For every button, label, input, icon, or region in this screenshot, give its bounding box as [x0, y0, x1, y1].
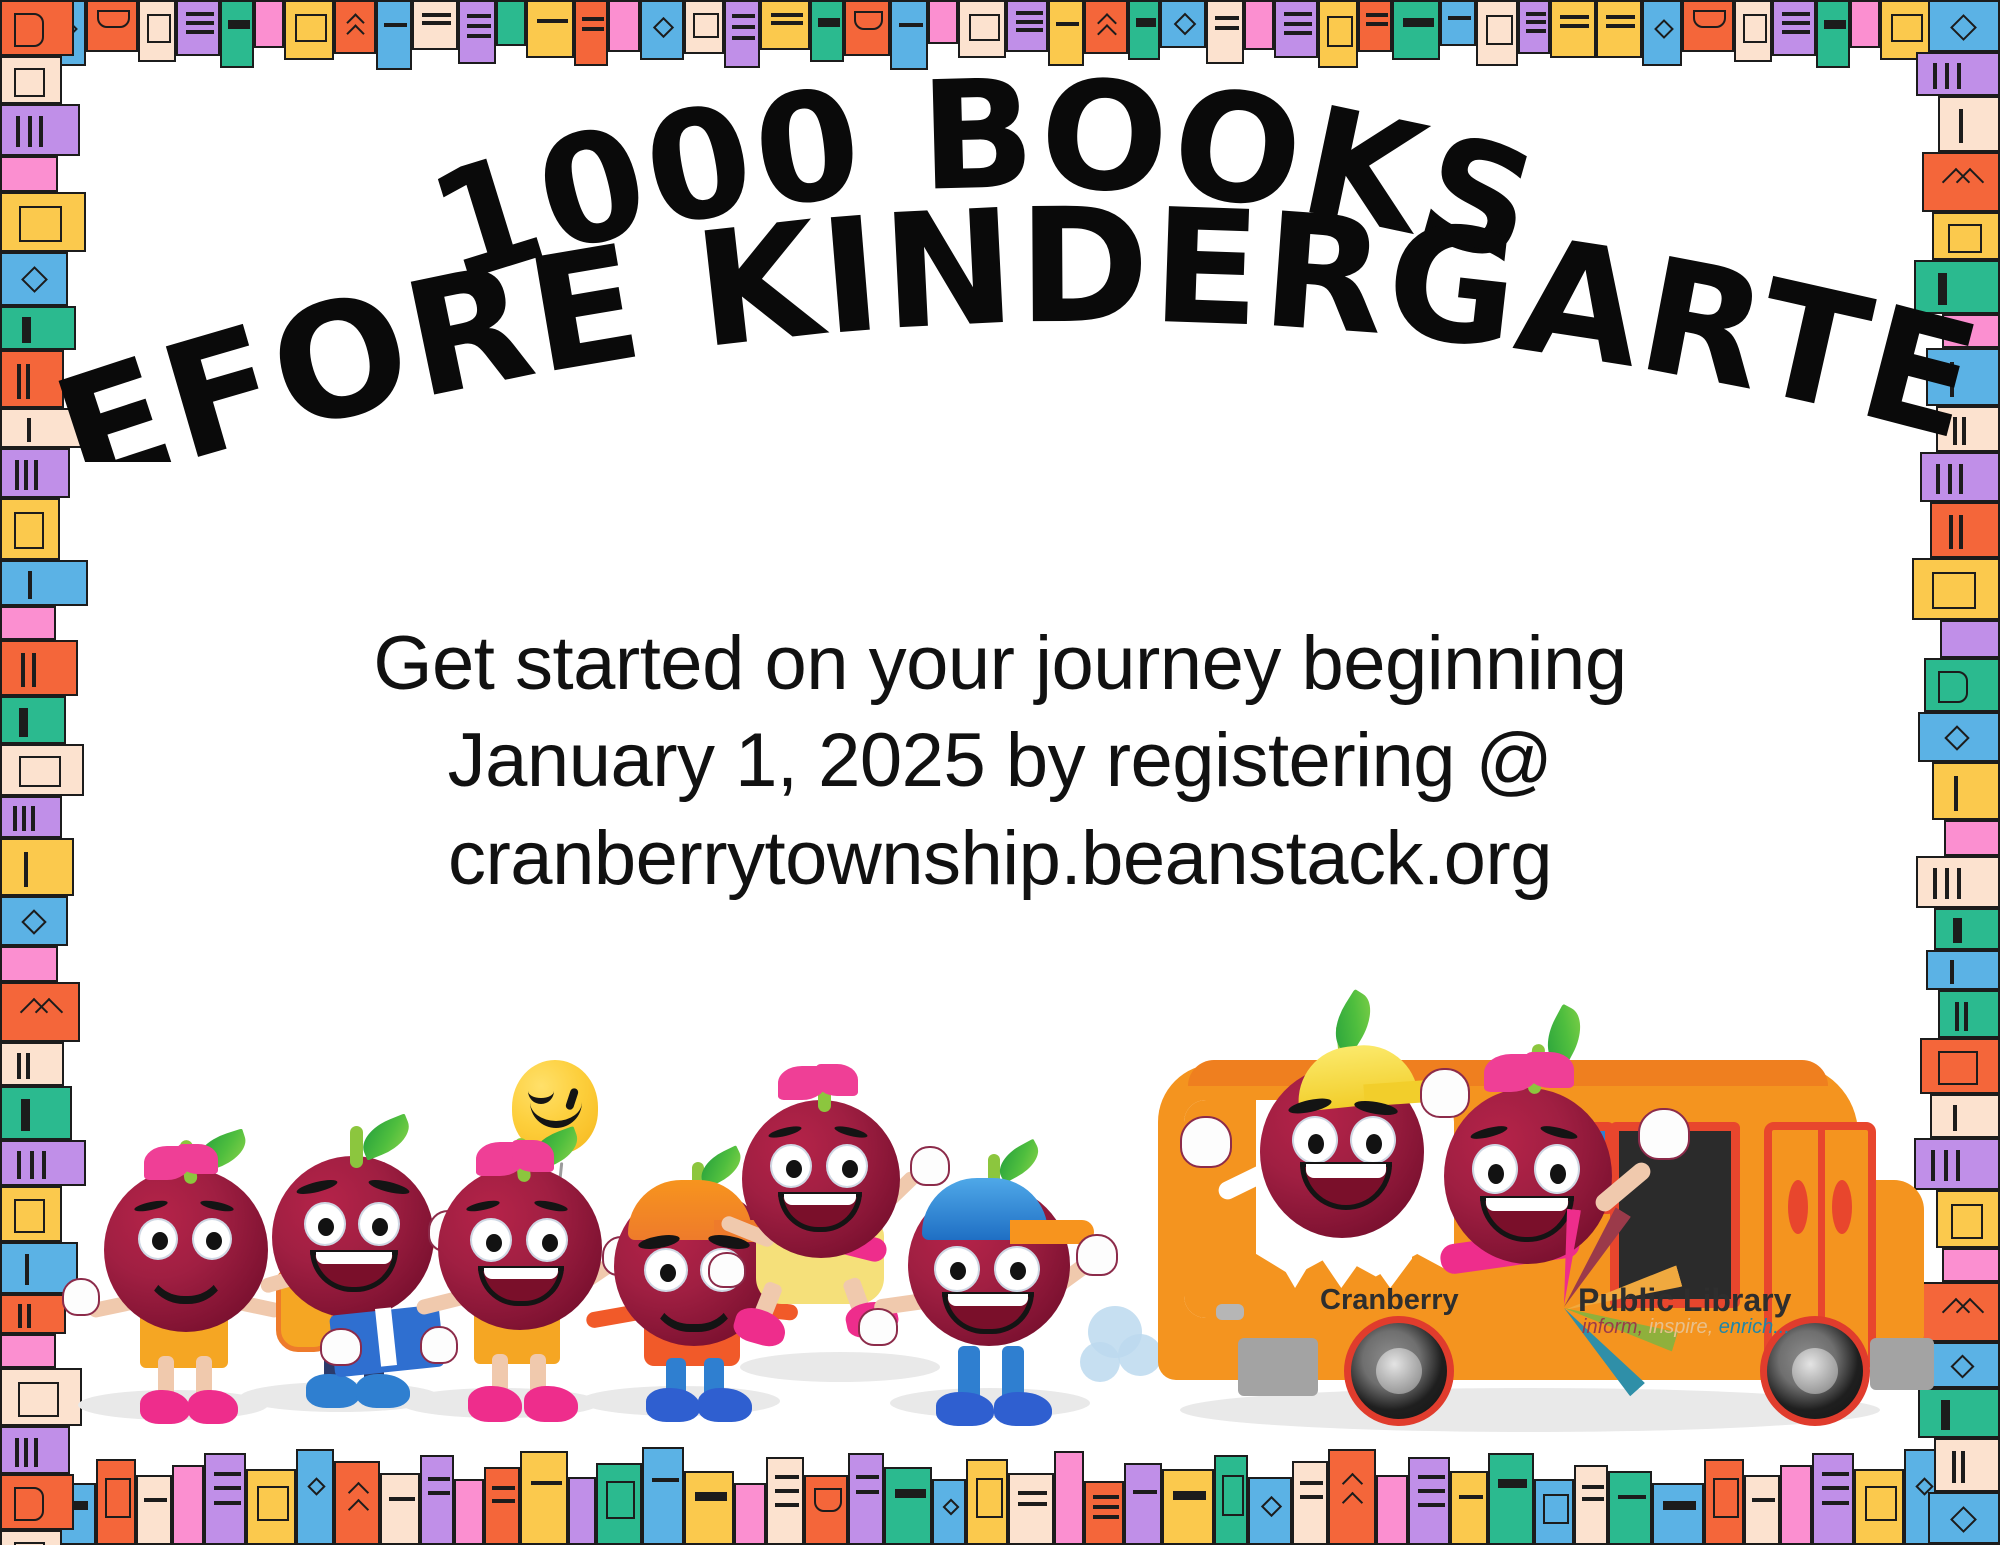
- hand: [320, 1328, 362, 1366]
- book-spine: [136, 1475, 172, 1545]
- spine-panel: [257, 1486, 289, 1521]
- spine-mark: [1284, 12, 1312, 16]
- book-spine: [1054, 1451, 1084, 1545]
- spine-mark: [531, 1481, 562, 1485]
- bus-mirror: [1216, 1304, 1244, 1320]
- book-spine: [958, 0, 1006, 58]
- spine-mark: [15, 460, 19, 490]
- spine-mark: [1093, 1495, 1119, 1499]
- book-spine: [334, 1461, 380, 1545]
- book-spine: [412, 0, 458, 50]
- spine-mark: [1403, 18, 1434, 27]
- book-spine: [1682, 0, 1734, 52]
- book-spine: [0, 56, 62, 104]
- library-logo: Cranberry Public Library inform, inspire…: [1320, 1258, 1750, 1342]
- book-spine: [684, 0, 724, 54]
- spine-mark: [1950, 960, 1954, 984]
- hand: [62, 1278, 100, 1316]
- book-spine: [1128, 0, 1160, 60]
- spine-mark: [1018, 1491, 1047, 1495]
- book-spine: [1932, 762, 2000, 820]
- spine-diamond: [943, 1499, 960, 1516]
- spine-mark: [1936, 464, 1940, 494]
- book-spine: [1924, 658, 2000, 712]
- spine-mark: [428, 1491, 450, 1495]
- spine-mark: [582, 27, 604, 31]
- spine-mark: [31, 806, 35, 831]
- bus-bumper: [1238, 1338, 1318, 1396]
- shoe: [188, 1390, 238, 1424]
- spine-mark: [856, 1490, 879, 1494]
- poster-title: 1000 BOOKS BEFORE KINDERGARTEN: [0, 42, 2000, 462]
- book-spine: [1048, 0, 1084, 66]
- book-spine: [296, 1449, 334, 1545]
- spine-mark: [467, 14, 491, 18]
- exhaust-puff: [1080, 1342, 1120, 1382]
- spine-mark: [422, 21, 451, 25]
- spine-chevron: [1342, 1492, 1363, 1513]
- spine-mark: [384, 23, 407, 27]
- spine-panel: [969, 14, 1000, 41]
- book-spine: [640, 0, 684, 60]
- pupil: [542, 1234, 558, 1252]
- spine-mark: [771, 13, 803, 17]
- spine-mark: [1300, 1495, 1323, 1499]
- spine-mark: [582, 17, 604, 21]
- spine-panel: [1743, 14, 1767, 43]
- wheel-hub: [1792, 1348, 1838, 1394]
- spine-mark: [732, 36, 755, 40]
- spine-panel: [1948, 224, 1982, 253]
- shoe: [140, 1390, 190, 1424]
- spine-mark: [1822, 1486, 1849, 1490]
- book-spine: [0, 408, 82, 448]
- book-spine: [458, 0, 496, 64]
- spine-mark: [1953, 918, 1962, 943]
- shoe: [468, 1386, 522, 1422]
- book-spine: [0, 104, 80, 156]
- poster-body-text: Get started on your journey beginning Ja…: [140, 615, 1860, 907]
- book-spine: [848, 1453, 884, 1545]
- book-spine: [0, 796, 62, 838]
- spine-diamond: [1174, 13, 1197, 36]
- spine-mark: [1016, 28, 1043, 32]
- library-bookmobile-bus: Cranberry Public Library inform, inspire…: [1128, 1004, 1928, 1434]
- spine-mark: [775, 1503, 799, 1507]
- book-spine: [484, 1467, 520, 1545]
- spine-panel: [854, 11, 883, 30]
- spine-panel: [1693, 10, 1726, 28]
- spine-mark: [1366, 22, 1388, 26]
- shoe: [730, 1303, 789, 1350]
- book-spine: [884, 1467, 932, 1545]
- pupil: [372, 1218, 388, 1236]
- book-spine: [760, 0, 810, 50]
- book-spine: [454, 1479, 484, 1545]
- spine-mark: [1418, 1503, 1445, 1507]
- pupil: [950, 1262, 966, 1280]
- pupil: [1366, 1134, 1382, 1154]
- book-spine: [496, 0, 526, 46]
- spine-diamond: [307, 1477, 325, 1495]
- spine-panel: [976, 1478, 1003, 1518]
- book-spine: [0, 156, 58, 192]
- book-spine: [1328, 1449, 1376, 1545]
- spine-panel: [1486, 15, 1513, 45]
- spine-mark: [492, 1499, 515, 1503]
- spine-panel: [105, 1478, 131, 1518]
- spine-mark: [16, 116, 20, 147]
- book-spine: [284, 0, 334, 60]
- hand-waving: [1076, 1234, 1118, 1276]
- book-spine: [608, 0, 640, 52]
- pupil: [1308, 1134, 1324, 1154]
- spine-mark: [1366, 13, 1388, 17]
- spine-mark: [1824, 20, 1846, 29]
- book-spine: [96, 1459, 136, 1545]
- bus-door-handle: [1788, 1180, 1808, 1234]
- pupil: [152, 1232, 168, 1250]
- logo-word-cranberry: Cranberry: [1320, 1284, 1459, 1317]
- book-spine: [0, 306, 76, 350]
- book-spine: [1574, 1465, 1608, 1545]
- spine-mark: [1526, 12, 1546, 16]
- spine-diamond: [21, 266, 48, 293]
- spine-mark: [1418, 1489, 1445, 1493]
- body-line-2: January 1, 2025 by registering @: [140, 712, 1860, 809]
- book-spine: [844, 0, 890, 56]
- cherry-body: [742, 1100, 900, 1258]
- spine-panel: [14, 512, 44, 549]
- book-spine: [684, 1471, 734, 1545]
- book-spine: [1816, 0, 1850, 68]
- book-spine: [176, 0, 220, 56]
- shoe: [994, 1392, 1052, 1426]
- book-spine: [1206, 0, 1244, 64]
- book-spine: [1922, 152, 2000, 212]
- spine-panel: [1932, 572, 1976, 609]
- spine-mark: [1606, 24, 1635, 28]
- book-spine: [0, 606, 56, 640]
- book-spine: [1608, 1471, 1652, 1545]
- book-spine: [0, 350, 64, 408]
- spine-panel: [97, 10, 130, 28]
- spine-mark: [1526, 29, 1546, 33]
- spine-mark: [214, 1501, 241, 1505]
- book-spine: [1734, 0, 1772, 62]
- book-spine: [1550, 0, 1596, 58]
- spine-mark: [771, 21, 803, 25]
- teeth: [1486, 1198, 1568, 1211]
- book-spine: [1358, 0, 1392, 52]
- spine-mark: [1526, 20, 1546, 24]
- book-spine: [1534, 1479, 1574, 1545]
- spine-mark: [856, 1475, 879, 1479]
- spine-panel: [14, 1487, 44, 1521]
- book-spine: [1596, 0, 1642, 58]
- registration-url[interactable]: cranberrytownship.beanstack.org: [140, 810, 1860, 907]
- spine-mark: [1957, 868, 1961, 899]
- spine-mark: [1582, 1485, 1604, 1489]
- book-border-top: [0, 0, 2000, 72]
- book-spine: [334, 0, 376, 54]
- spine-diamond: [1944, 725, 1969, 750]
- book-spine: [380, 1473, 420, 1545]
- spine-mark: [1952, 1451, 1956, 1483]
- title-line-2: BEFORE KINDERGARTEN: [0, 42, 1995, 462]
- spine-mark: [899, 23, 923, 27]
- spine-diamond: [1654, 19, 1674, 39]
- book-spine: [1932, 212, 2000, 260]
- spine-mark: [214, 1486, 241, 1490]
- spine-mark: [1822, 1472, 1849, 1476]
- book-spine: [204, 1453, 246, 1545]
- book-spine: [0, 696, 66, 744]
- spine-mark: [1016, 11, 1043, 15]
- book-spine: [254, 0, 284, 48]
- book-spine: [1440, 0, 1476, 46]
- spine-mark: [1056, 22, 1079, 26]
- spine-chevron: [1097, 24, 1117, 44]
- tagline-word-inform: inform,: [1582, 1316, 1643, 1338]
- book-spine: [1488, 1453, 1534, 1545]
- book-spine: [526, 0, 574, 58]
- spine-mark: [186, 12, 214, 16]
- spine-mark: [1215, 16, 1239, 20]
- book-spine: [1476, 0, 1518, 66]
- pupil: [786, 1160, 802, 1178]
- spine-mark: [1136, 18, 1156, 27]
- leaf: [356, 1113, 415, 1160]
- spine-mark: [1459, 1495, 1483, 1499]
- spine-mark: [1953, 417, 1957, 445]
- book-spine: [0, 0, 74, 56]
- hair-bow: [816, 1064, 858, 1096]
- leaf: [993, 1139, 1046, 1184]
- pupil: [318, 1218, 334, 1236]
- spine-mark: [1173, 1491, 1206, 1500]
- poster-canvas: 1000 BOOKS BEFORE KINDERGARTEN Get start…: [0, 0, 2000, 1545]
- book-spine: [520, 1451, 568, 1545]
- spine-mark: [1959, 515, 1963, 549]
- book-spine: [1214, 1455, 1248, 1545]
- spine-mark: [1948, 464, 1952, 494]
- teeth: [484, 1268, 558, 1279]
- spine-mark: [1498, 1479, 1527, 1488]
- spine-mark: [818, 18, 840, 27]
- spine-panel: [814, 1488, 842, 1512]
- book-spine: [1918, 712, 2000, 762]
- spine-panel: [295, 14, 327, 42]
- book-spine: [1450, 1471, 1488, 1545]
- spine-mark: [214, 1472, 241, 1476]
- book-spine: [0, 1474, 74, 1530]
- book-spine: [376, 0, 412, 70]
- spine-mark: [428, 1477, 450, 1481]
- teeth: [1306, 1164, 1386, 1178]
- book-spine: [890, 0, 928, 70]
- spine-chevron: [348, 1499, 369, 1520]
- spine-mark: [895, 1489, 926, 1498]
- spine-mark: [1663, 1501, 1696, 1510]
- spine-mark: [13, 806, 17, 831]
- book-spine: [1084, 0, 1128, 54]
- spine-mark: [1133, 1490, 1157, 1494]
- spine-mark: [1962, 417, 1966, 445]
- hand-waving: [1180, 1116, 1232, 1168]
- book-spine: [1942, 314, 2000, 348]
- spine-mark: [1752, 1498, 1775, 1502]
- spine-mark: [186, 30, 214, 34]
- spine-mark: [1582, 1497, 1604, 1501]
- spine-panel: [606, 1481, 635, 1519]
- cherry-character-boy-blue-cap: [880, 1150, 1110, 1410]
- spine-mark: [1016, 20, 1043, 24]
- spine-mark: [1093, 1515, 1119, 1519]
- spine-panel: [1543, 1494, 1569, 1524]
- spine-mark: [228, 20, 250, 29]
- spine-panel: [1713, 1478, 1739, 1518]
- teeth: [316, 1252, 392, 1264]
- spine-diamond: [1950, 14, 1977, 41]
- stem: [350, 1126, 363, 1168]
- spine-mark: [17, 364, 21, 399]
- spine-mark: [1018, 1502, 1047, 1506]
- illustration-scene: Cranberry Public Library inform, inspire…: [0, 990, 2000, 1455]
- spine-mark: [467, 34, 491, 38]
- book-spine: [734, 1483, 766, 1545]
- logo-word-public-library: Public Library: [1578, 1282, 1791, 1319]
- pupil: [206, 1232, 222, 1250]
- shoe: [306, 1374, 360, 1408]
- pupil: [486, 1234, 502, 1252]
- spine-mark: [34, 460, 38, 490]
- book-spine: [1926, 348, 2000, 406]
- book-spine: [1408, 1457, 1450, 1545]
- hair-bow: [1526, 1052, 1574, 1088]
- book-spine: [642, 1447, 684, 1545]
- spine-mark: [1418, 1475, 1445, 1479]
- hand: [708, 1252, 746, 1288]
- book-spine: [0, 946, 58, 982]
- spine-mark: [144, 1498, 167, 1502]
- book-spine: [0, 448, 70, 498]
- book-spine: [1376, 1475, 1408, 1545]
- book-spine: [0, 640, 78, 696]
- spine-mark: [1933, 63, 1937, 89]
- spine-panel: [147, 14, 171, 43]
- body-line-1: Get started on your journey beginning: [140, 615, 1860, 712]
- book-spine: [1008, 1473, 1054, 1545]
- teeth: [948, 1294, 1028, 1306]
- book-spine: [932, 1479, 966, 1545]
- spine-mark: [1215, 26, 1239, 30]
- book-spine: [1518, 0, 1550, 54]
- spine-panel: [19, 206, 62, 242]
- book-spine: [1914, 260, 2000, 314]
- spine-mark: [775, 1489, 799, 1493]
- spine-mark: [1945, 868, 1949, 899]
- spine-diamond: [21, 909, 46, 934]
- spine-mark: [1448, 16, 1471, 20]
- book-spine: [1084, 1481, 1124, 1545]
- bus-bumper: [1870, 1338, 1934, 1390]
- book-spine: [1318, 0, 1358, 68]
- spine-panel: [14, 68, 45, 97]
- wheel-hub: [1376, 1348, 1422, 1394]
- book-spine: [1652, 1483, 1704, 1545]
- shoe: [524, 1386, 578, 1422]
- spine-panel: [1938, 671, 1968, 703]
- pupil: [1550, 1164, 1566, 1184]
- hair-bow: [512, 1140, 554, 1172]
- spine-mark: [1961, 1451, 1965, 1483]
- book-spine: [1930, 502, 2000, 558]
- spine-mark: [26, 364, 30, 399]
- spine-panel: [1222, 1475, 1244, 1516]
- spine-mark: [1284, 22, 1312, 26]
- shoe: [646, 1388, 700, 1422]
- book-spine: [1916, 52, 2000, 96]
- book-spine: [0, 560, 88, 606]
- book-spine: [1162, 1469, 1214, 1545]
- book-spine: [766, 1457, 804, 1545]
- spine-mark: [775, 1475, 799, 1479]
- spine-mark: [39, 116, 43, 147]
- spine-mark: [28, 571, 32, 599]
- spine-mark: [652, 1478, 679, 1482]
- spine-mark: [1959, 464, 1963, 494]
- book-spine: [1850, 0, 1880, 48]
- spine-mark: [21, 653, 25, 687]
- book-spine: [172, 1465, 204, 1545]
- book-spine: [1944, 820, 2000, 856]
- shoe: [698, 1388, 752, 1422]
- logo-tagline: inform, inspire, enrich...: [1582, 1316, 1790, 1339]
- teeth: [784, 1194, 856, 1205]
- spine-diamond: [653, 17, 674, 38]
- pupil: [842, 1160, 858, 1178]
- book-spine: [0, 1530, 62, 1545]
- pupil: [660, 1264, 676, 1282]
- spine-mark: [1782, 12, 1810, 16]
- spine-mark: [1560, 15, 1589, 19]
- spine-mark: [1938, 273, 1947, 305]
- book-spine: [1920, 452, 2000, 502]
- book-spine: [1006, 0, 1048, 52]
- pupil: [1488, 1164, 1504, 1184]
- book-spine: [1916, 856, 2000, 908]
- book-spine: [1704, 1459, 1744, 1545]
- spine-mark: [467, 24, 491, 28]
- book-spine: [810, 0, 844, 62]
- book-spine: [1938, 96, 2000, 152]
- book-spine: [1248, 1477, 1292, 1545]
- spine-mark: [537, 19, 568, 23]
- spine-mark: [1782, 30, 1810, 34]
- spine-mark: [19, 708, 28, 737]
- spine-mark: [28, 116, 32, 147]
- pupil: [1010, 1262, 1026, 1280]
- hand-waving: [1638, 1108, 1690, 1160]
- spine-mark: [1560, 24, 1589, 28]
- spine-mark: [732, 25, 755, 29]
- spine-mark: [1284, 31, 1312, 35]
- hand: [858, 1308, 898, 1346]
- spine-chevron: [346, 24, 364, 42]
- book-spine: [574, 0, 608, 66]
- book-spine: [966, 1459, 1008, 1545]
